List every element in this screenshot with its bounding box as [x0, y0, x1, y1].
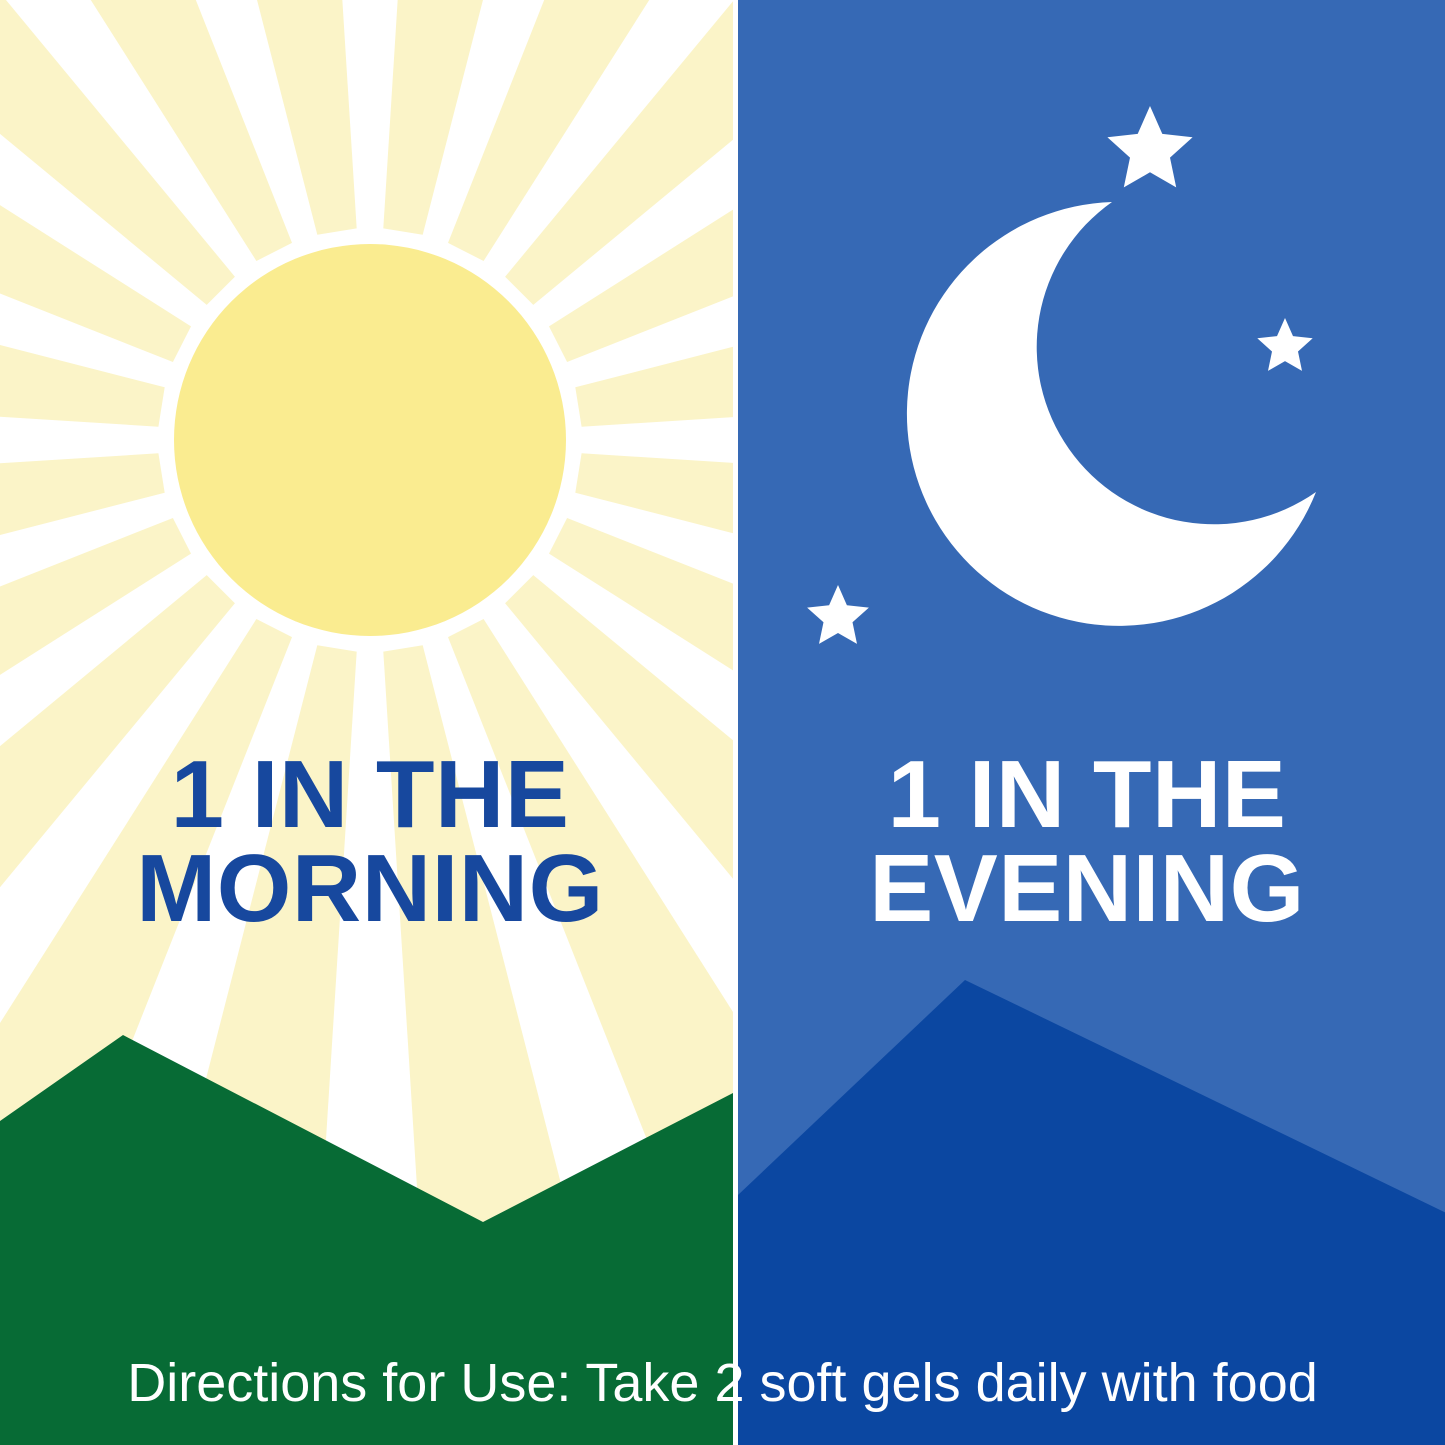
panel-divider — [733, 0, 738, 1445]
evening-label-line-2: EVENING — [742, 842, 1432, 936]
morning-label-line-2: MORNING — [20, 842, 720, 936]
evening-panel-artwork — [738, 0, 1445, 1445]
morning-label: 1 IN THE MORNING — [20, 748, 720, 936]
morning-label-line-1: 1 IN THE — [20, 748, 720, 842]
artwork-layer — [0, 0, 1445, 1445]
directions-for-use-text: Directions for Use: Take 2 soft gels dai… — [0, 1352, 1445, 1414]
evening-label: 1 IN THE EVENING — [742, 748, 1432, 936]
evening-label-line-1: 1 IN THE — [742, 748, 1432, 842]
sun-icon — [174, 244, 566, 636]
promo-graphic: 1 IN THE MORNING 1 IN THE EVENING Direct… — [0, 0, 1445, 1445]
